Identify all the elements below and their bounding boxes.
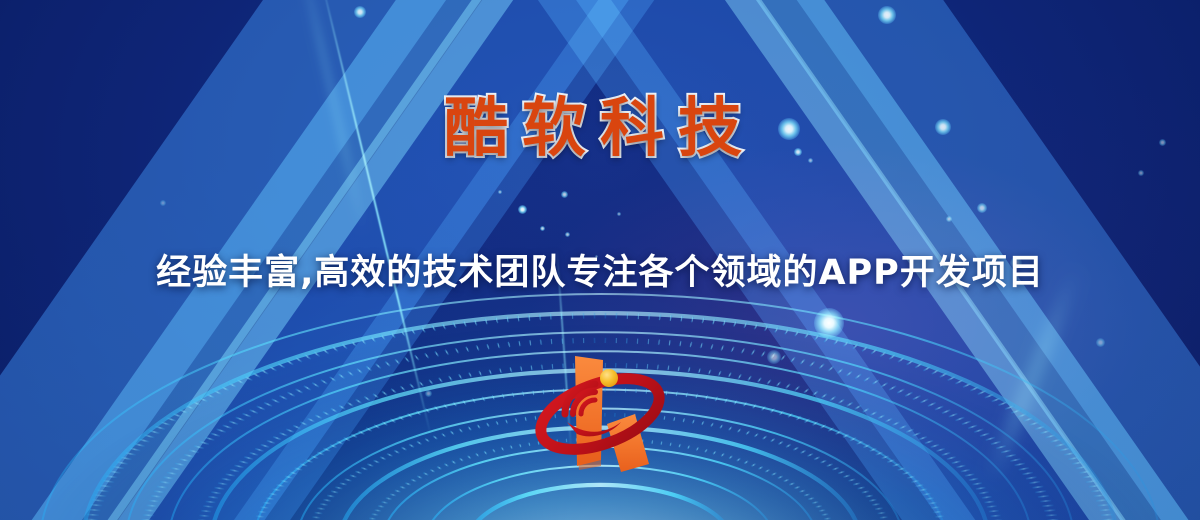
glow-particle-19 bbox=[1138, 170, 1144, 176]
glow-particle-6 bbox=[617, 212, 621, 216]
subtitle-container: 经验丰富,高效的技术团队专注各个领域的APP开发项目 bbox=[0, 244, 1200, 295]
glow-particle-15 bbox=[977, 203, 987, 213]
company-logo bbox=[525, 338, 675, 498]
glow-particle-4 bbox=[498, 190, 502, 194]
page-title: 酷软科技 bbox=[444, 96, 756, 163]
glow-particle-13 bbox=[767, 350, 781, 364]
glow-particle-14 bbox=[878, 6, 896, 24]
glow-particle-3 bbox=[561, 191, 568, 198]
glow-particle-5 bbox=[565, 232, 570, 237]
glow-particle-1 bbox=[518, 205, 527, 214]
hero-banner: 酷软科技 经验丰富,高效的技术团队专注各个领域的APP开发项目 bbox=[0, 0, 1200, 520]
glow-particle-0 bbox=[354, 6, 366, 18]
page-subtitle: 经验丰富,高效的技术团队专注各个领域的APP开发项目 bbox=[156, 244, 1044, 295]
logo-dot bbox=[600, 369, 618, 387]
glow-particle-20 bbox=[160, 200, 166, 206]
glow-particle-21 bbox=[1096, 338, 1105, 347]
title-container: 酷软科技 bbox=[0, 96, 1200, 163]
logo-k-orbit-icon bbox=[525, 338, 675, 498]
glow-particle-22 bbox=[425, 390, 432, 397]
glow-particle-12 bbox=[814, 308, 844, 338]
glow-particle-2 bbox=[540, 226, 545, 231]
glow-particle-16 bbox=[946, 216, 952, 222]
